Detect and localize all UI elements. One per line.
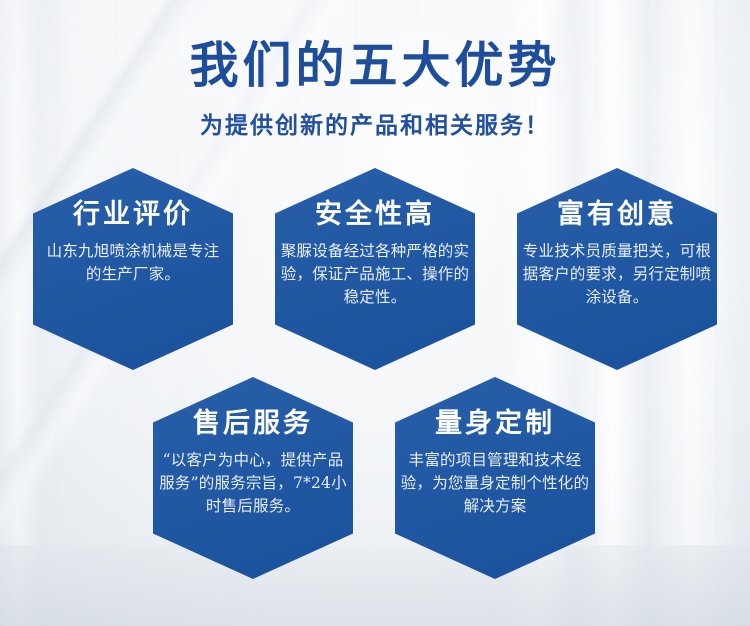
advantage-description: 山东九旭喷涂机械是专注的生产厂家。 [40,240,226,286]
advantage-title: 行业评价 [73,201,193,228]
advantage-title: 安全性高 [315,201,435,228]
advantage-description: “以客户为中心，提供产品服务”的服务宗旨，7*24小时售后服务。 [155,449,351,518]
advantage-title: 量身定制 [435,410,555,437]
advantage-title: 售后服务 [193,410,313,437]
page-subtitle: 为提供创新的产品和相关服务！ [0,106,750,140]
advantage-description: 丰富的项目管理和技术经验，为您量身定制个性化的解决方案 [397,449,593,518]
page-title: 我们的五大优势 [0,38,750,93]
banner-heading: 我们的五大优势 为提供创新的产品和相关服务！ [0,38,750,140]
advantage-description: 聚脲设备经过各种严格的实验，保证产品施工、操作的稳定性。 [277,240,473,309]
promo-banner: 我们的五大优势 为提供创新的产品和相关服务！ 行业评价 山东九旭喷涂机械是专注的… [0,0,750,626]
advantage-description: 专业技术员质量把关，可根据客户的要求，另行定制喷涂设备。 [519,240,715,309]
advantage-title: 富有创意 [557,201,677,228]
